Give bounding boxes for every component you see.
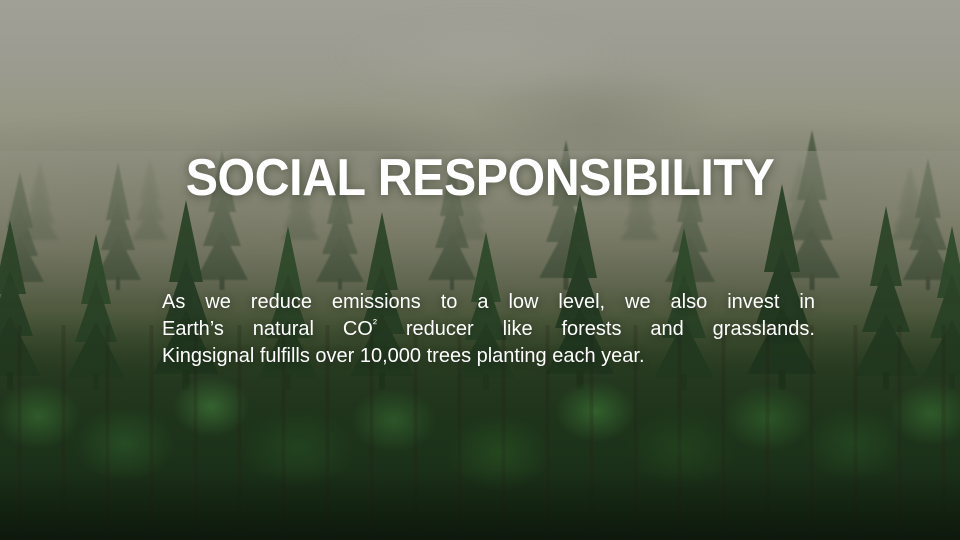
word: we [625, 289, 651, 316]
word: we [205, 289, 231, 316]
word: reducer [406, 316, 474, 343]
word: natural [253, 316, 314, 343]
body-line-3: Kingsignal fulfills over 10,000 trees pl… [162, 343, 815, 370]
word: a [477, 289, 488, 316]
co2-text: CO [343, 318, 373, 340]
word: forests [561, 316, 621, 343]
slide-body-text: As we reduce emissions to a low level, w… [162, 289, 815, 370]
word: emissions [332, 289, 421, 316]
word: level, [558, 289, 605, 316]
word: As [162, 289, 185, 316]
word: grasslands. [713, 316, 815, 343]
word: reduce [251, 289, 312, 316]
word: to [441, 289, 458, 316]
word: in [799, 289, 815, 316]
slide-canvas: SOCIAL RESPONSIBILITY As we reduce emiss… [0, 0, 960, 540]
slide-content: SOCIAL RESPONSIBILITY As we reduce emiss… [0, 0, 960, 540]
word: also [671, 289, 708, 316]
word-co2: CO² [343, 316, 377, 343]
word: low [508, 289, 538, 316]
word: Earth’s [162, 316, 224, 343]
word: like [503, 316, 533, 343]
slide-title: SOCIAL RESPONSIBILITY [34, 152, 927, 204]
body-line-2: Earth’s natural CO² reducer like forests… [162, 316, 815, 343]
body-line-1: As we reduce emissions to a low level, w… [162, 289, 815, 316]
word: invest [727, 289, 779, 316]
word: and [650, 316, 683, 343]
co2-superscript: ² [373, 316, 377, 330]
